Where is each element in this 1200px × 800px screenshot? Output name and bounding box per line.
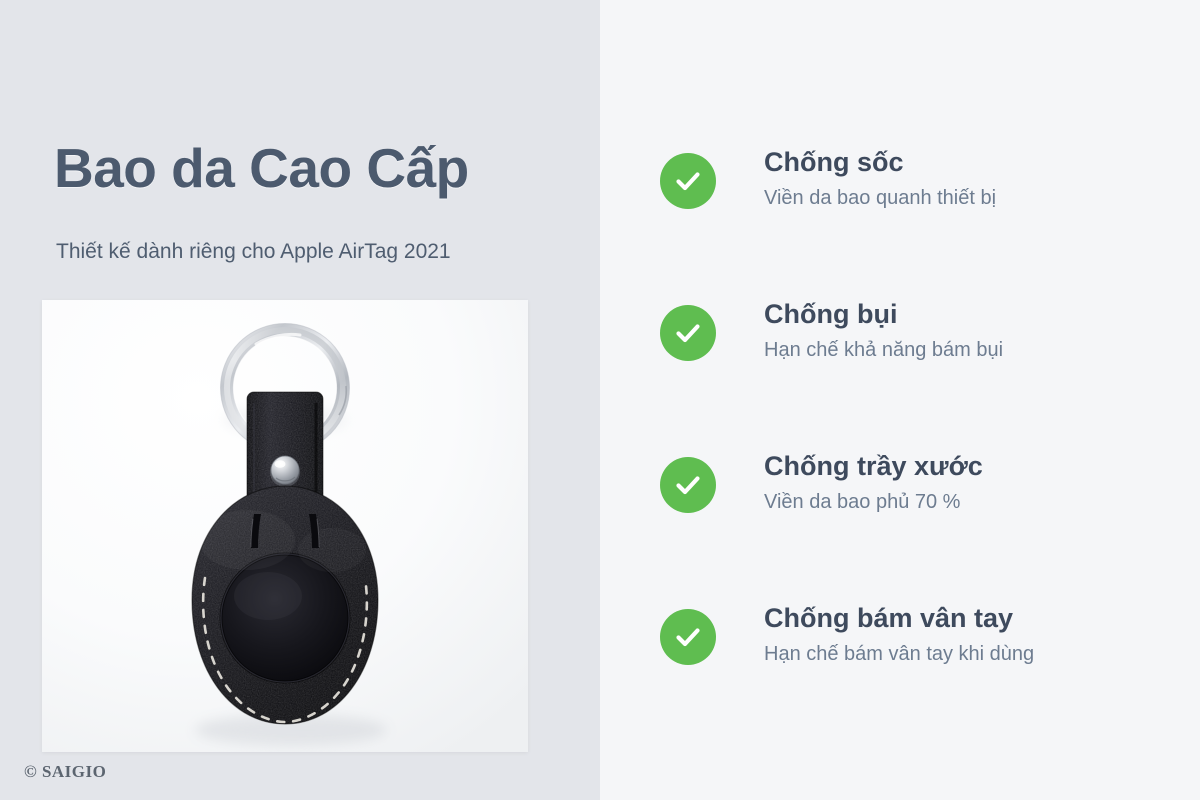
left-panel: Bao da Cao Cấp Thiết kế dành riêng cho A… [0,0,600,800]
feature-text: Chống bám vân tay Hạn chế bám vân tay kh… [764,596,1034,669]
airtag-leather-keychain-illustration [42,300,528,752]
feature-text: Chống trầy xước Viền da bao phủ 70 % [764,444,983,517]
feature-description: Viền da bao phủ 70 % [764,488,983,517]
check-mark-icon [672,165,704,197]
page-subtitle: Thiết kế dành riêng cho Apple AirTag 202… [56,240,451,264]
feature-item: Chống bám vân tay Hạn chế bám vân tay kh… [660,596,1180,748]
feature-description: Hạn chế khả năng bám bụi [764,336,1003,365]
check-mark-icon [672,621,704,653]
feature-item: Chống bụi Hạn chế khả năng bám bụi [660,292,1180,444]
page-title: Bao da Cao Cấp [54,136,469,200]
feature-text: Chống sốc Viền da bao quanh thiết bị [764,140,996,213]
copyright-watermark: © SAIGIO [24,762,106,782]
feature-item: Chống trầy xước Viền da bao phủ 70 % [660,444,1180,596]
feature-title: Chống bụi [764,298,1003,332]
check-mark-icon [672,317,704,349]
check-mark-icon [672,469,704,501]
feature-item: Chống sốc Viền da bao quanh thiết bị [660,140,1180,292]
check-circle-icon [660,305,716,361]
feature-title: Chống sốc [764,146,996,180]
snap-rivet [270,456,300,487]
feature-description: Viền da bao quanh thiết bị [764,184,996,213]
product-banner: Bao da Cao Cấp Thiết kế dành riêng cho A… [0,0,1200,800]
feature-text: Chống bụi Hạn chế khả năng bám bụi [764,292,1003,365]
feature-title: Chống bám vân tay [764,602,1034,636]
check-circle-icon [660,609,716,665]
right-panel: Chống sốc Viền da bao quanh thiết bị Chố… [600,0,1200,800]
feature-title: Chống trầy xước [764,450,983,484]
product-photo [42,300,528,752]
check-circle-icon [660,457,716,513]
feature-list: Chống sốc Viền da bao quanh thiết bị Chố… [660,140,1180,748]
check-circle-icon [660,153,716,209]
feature-description: Hạn chế bám vân tay khi dùng [764,640,1034,669]
